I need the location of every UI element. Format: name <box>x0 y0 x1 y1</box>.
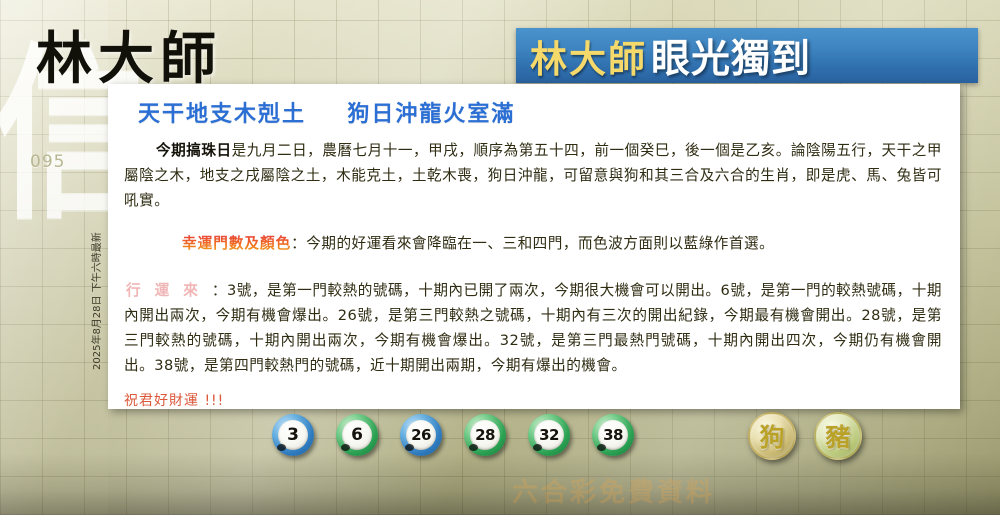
panel-title-right: 狗日沖龍火室滿 <box>347 102 515 127</box>
blessing-text: 祝君好財運 !!! <box>124 390 942 410</box>
zodiac-medallion-dog[interactable]: 狗 <box>748 412 796 460</box>
hot-numbers-text: ：3號，是第一門較熱的號碼，十期內已開了兩次，今期很大機會可以開出。6號，是第一… <box>124 282 942 374</box>
footer-watermark: 六合彩免費資料 <box>512 472 715 509</box>
zodiac-row: 狗 豬 <box>748 412 862 460</box>
lottery-ball[interactable]: 6 <box>336 414 378 456</box>
lucky-label: 幸運門數及顏色 <box>182 235 291 252</box>
ball-shadow-dot <box>533 444 542 451</box>
lottery-ball[interactable]: 38 <box>592 414 634 456</box>
intro-paragraph: 今期搞珠日是九月二日，農曆七月十一，甲戌，順序為第五十四，前一個癸巳，後一個是乙… <box>124 138 942 213</box>
hot-numbers-block: 行運來：3號，是第一門較熱的號碼，十期內已開了兩次，今期很大機會可以開出。6號，… <box>124 278 942 378</box>
panel-title: 天干地支木剋土 狗日沖龍火室滿 <box>124 92 942 134</box>
lottery-ball[interactable]: 28 <box>464 414 506 456</box>
banner-slogan-text: 眼光獨到 <box>651 28 811 84</box>
ball-shadow-dot <box>277 444 286 451</box>
content-panel: 天干地支木剋土 狗日沖龍火室滿 今期搞珠日是九月二日，農曆七月十一，甲戌，順序為… <box>108 84 960 409</box>
lucky-line: 幸運門數及顏色：今期的好運看來會降臨在一、三和四門，而色波方面則以藍綠作首選。 <box>124 231 942 256</box>
ball-shadow-dot <box>597 444 606 451</box>
zodiac-medallion-pig[interactable]: 豬 <box>814 412 862 460</box>
lottery-ball[interactable]: 26 <box>400 414 442 456</box>
header-banner: 林大師 眼光獨到 <box>516 28 978 83</box>
intro-body-text: 是九月二日，農曆七月十一，甲戌，順序為第五十四，前一個癸巳，後一個是乙亥。論陰陽… <box>124 142 942 209</box>
poster-canvas: 信 095 2025年8月28日 下午六時最新 林大師 林大師 眼光獨到 天干地… <box>0 0 1000 515</box>
background-bottom-shade <box>0 453 1000 515</box>
issue-number: 095 <box>30 152 65 172</box>
logo-wordmark: 林大師 <box>36 14 222 95</box>
ball-shadow-dot <box>469 444 478 451</box>
lottery-ball[interactable]: 3 <box>272 414 314 456</box>
banner-brand-text: 林大師 <box>530 29 647 83</box>
ball-shadow-dot <box>341 444 350 451</box>
lucky-text: ：今期的好運看來會降臨在一、三和四門，而色波方面則以藍綠作首選。 <box>291 235 774 252</box>
intro-lead-label: 今期搞珠日 <box>156 142 232 159</box>
panel-title-left: 天干地支木剋土 <box>138 102 306 127</box>
lottery-ball[interactable]: 32 <box>528 414 570 456</box>
ball-shadow-dot <box>405 444 414 451</box>
date-stamp: 2025年8月28日 下午六時最新 <box>88 232 103 370</box>
hot-numbers-label: 行運來 <box>124 282 212 299</box>
lottery-ball-row: 3 6 26 28 32 38 <box>272 414 634 456</box>
